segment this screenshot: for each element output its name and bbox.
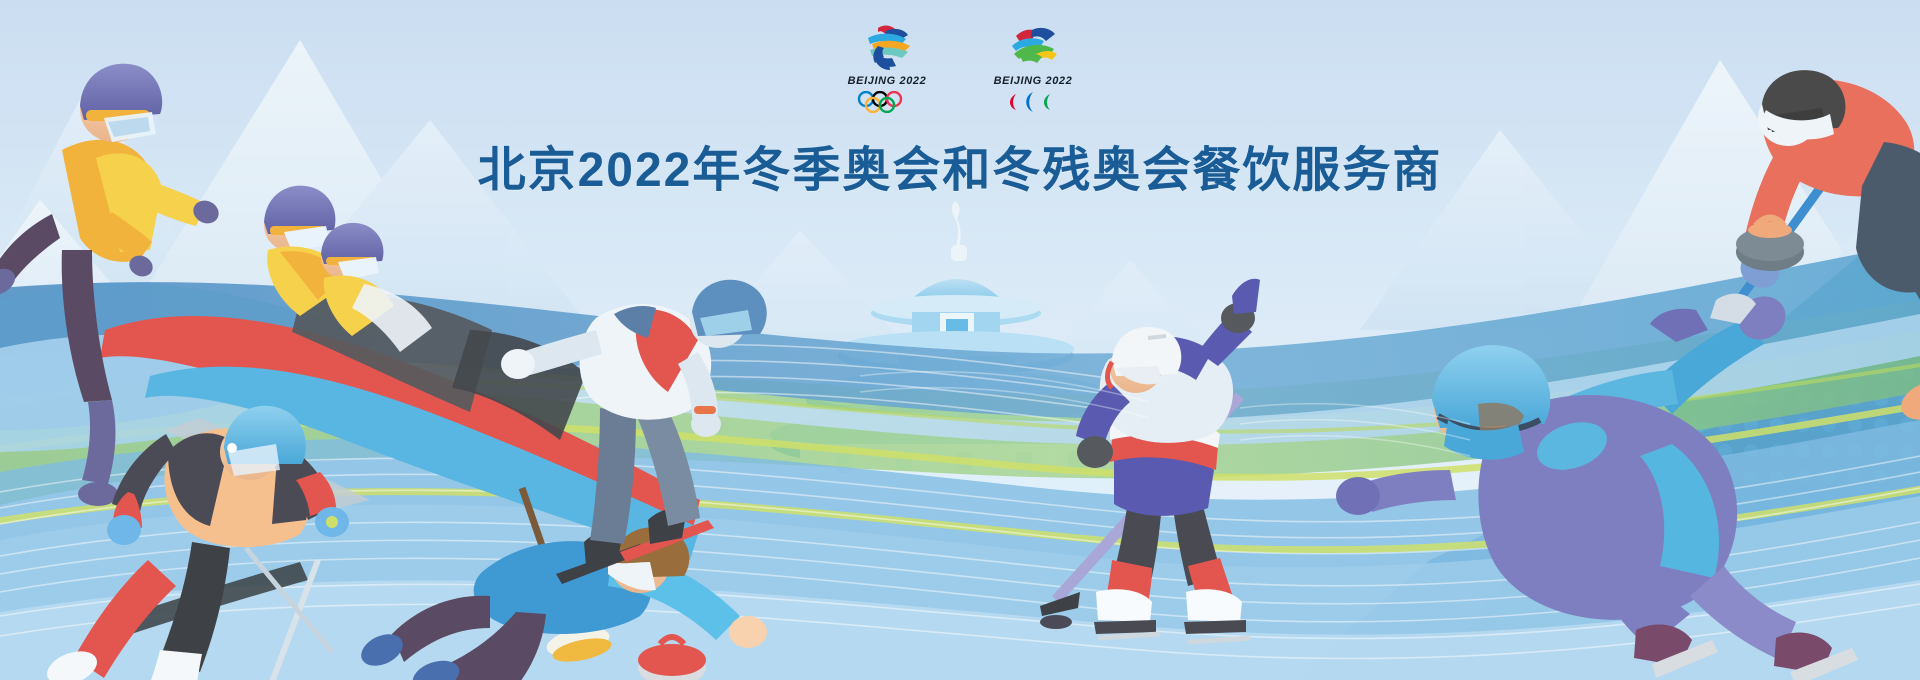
olympic-wordmark: BEIJING 2022 xyxy=(848,75,927,87)
flight-mark-icon xyxy=(1002,22,1064,72)
emblem-group: BEIJING 2022 xyxy=(835,22,1085,114)
olympic-rings-icon xyxy=(855,91,919,113)
page-title: 北京2022年冬季奥会和冬残奥会餐饮服务商 xyxy=(478,130,1443,200)
winter-dream-mark-icon xyxy=(856,22,918,72)
olympic-emblem-mark xyxy=(856,22,918,72)
olympic-emblem: BEIJING 2022 xyxy=(835,22,939,114)
paralympic-emblem-mark xyxy=(1002,22,1064,72)
agitos-icon xyxy=(1006,91,1060,113)
paralympic-emblem: BEIJING 2022 xyxy=(981,22,1085,114)
paralympic-wordmark: BEIJING 2022 xyxy=(994,75,1073,87)
olympic-banner: BEIJING 2022 xyxy=(0,0,1920,680)
olympic-rings xyxy=(855,90,919,114)
paralympic-agitos xyxy=(1006,90,1060,114)
